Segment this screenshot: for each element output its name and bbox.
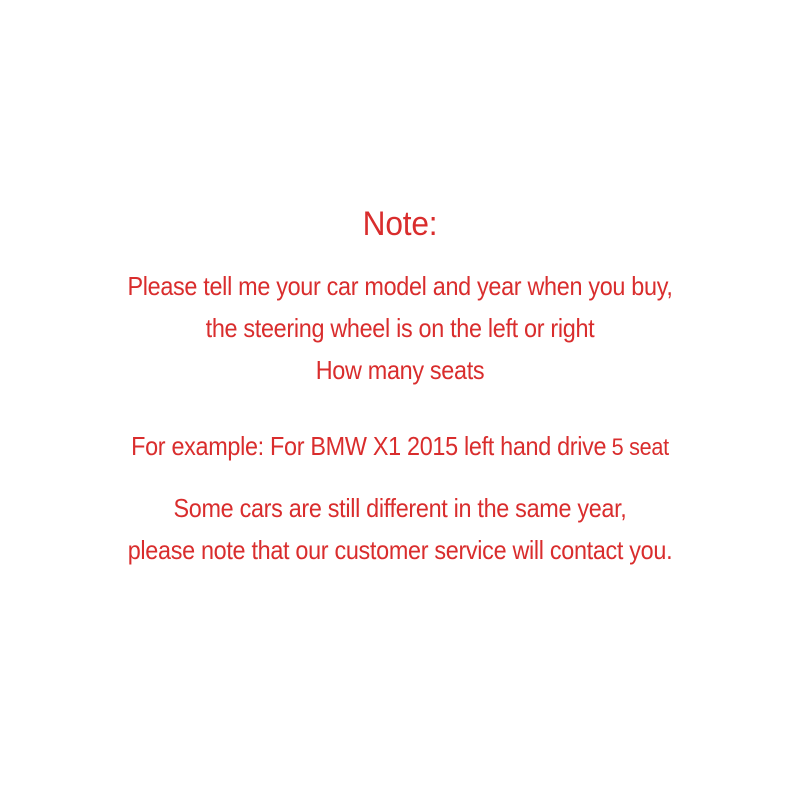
example-seat-count: 5 seat: [606, 434, 669, 461]
note-line: How many seats: [40, 349, 760, 391]
note-graphic: Note: Please tell me your car model and …: [0, 0, 800, 800]
example-text: For example: For BMW X1 2015 left hand d…: [131, 431, 606, 461]
example-block: For example: For BMW X1 2015 left hand d…: [0, 425, 800, 469]
closing-note-block: Some cars are still different in the sam…: [0, 487, 800, 571]
note-line: the steering wheel is on the left or rig…: [40, 307, 760, 349]
note-line: please note that our customer service wi…: [40, 529, 760, 571]
note-line: For example: For BMW X1 2015 left hand d…: [40, 425, 760, 469]
note-line: Some cars are still different in the sam…: [40, 487, 760, 529]
primary-instructions-block: Please tell me your car model and year w…: [0, 265, 800, 391]
note-heading: Note:: [28, 203, 772, 245]
note-line: Please tell me your car model and year w…: [40, 265, 760, 307]
